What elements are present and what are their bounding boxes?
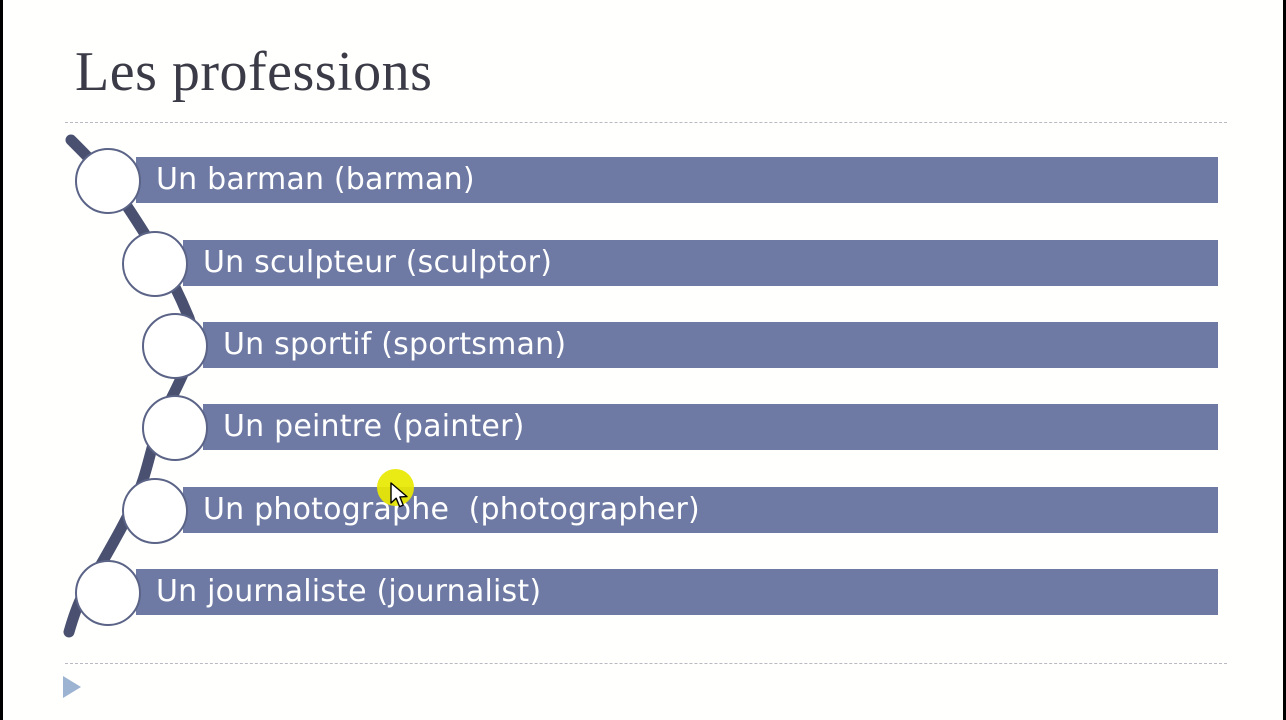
process-step-5[interactable]: Un photographe (photographer) [183,487,1218,533]
arrow-cursor [390,482,410,510]
step-circle-3[interactable] [142,313,208,379]
play-triangle-icon[interactable] [63,676,81,698]
step-label: Un photographe (photographer) [203,493,700,527]
step-label: Un peintre (painter) [223,410,525,444]
process-step-6[interactable]: Un journaliste (journalist) [136,569,1218,615]
title-divider [65,122,1227,123]
process-step-3[interactable]: Un sportif (sportsman) [203,322,1218,368]
step-circle-2[interactable] [122,231,188,297]
step-circle-1[interactable] [75,148,141,214]
step-label: Un journaliste (journalist) [156,575,541,609]
process-step-4[interactable]: Un peintre (painter) [203,404,1218,450]
process-step-2[interactable]: Un sculpteur (sculptor) [183,240,1218,286]
step-label: Un sportif (sportsman) [223,328,566,362]
footer-divider [65,663,1227,664]
step-circle-4[interactable] [142,395,208,461]
process-step-1[interactable]: Un barman (barman) [136,157,1218,203]
step-circle-5[interactable] [122,478,188,544]
page-title: Les professions [75,38,1225,106]
step-circle-6[interactable] [75,560,141,626]
step-label: Un barman (barman) [156,163,475,197]
step-label: Un sculpteur (sculptor) [203,246,552,280]
presentation-slide: Les professions Un barman (barman) Un sc… [0,0,1286,720]
